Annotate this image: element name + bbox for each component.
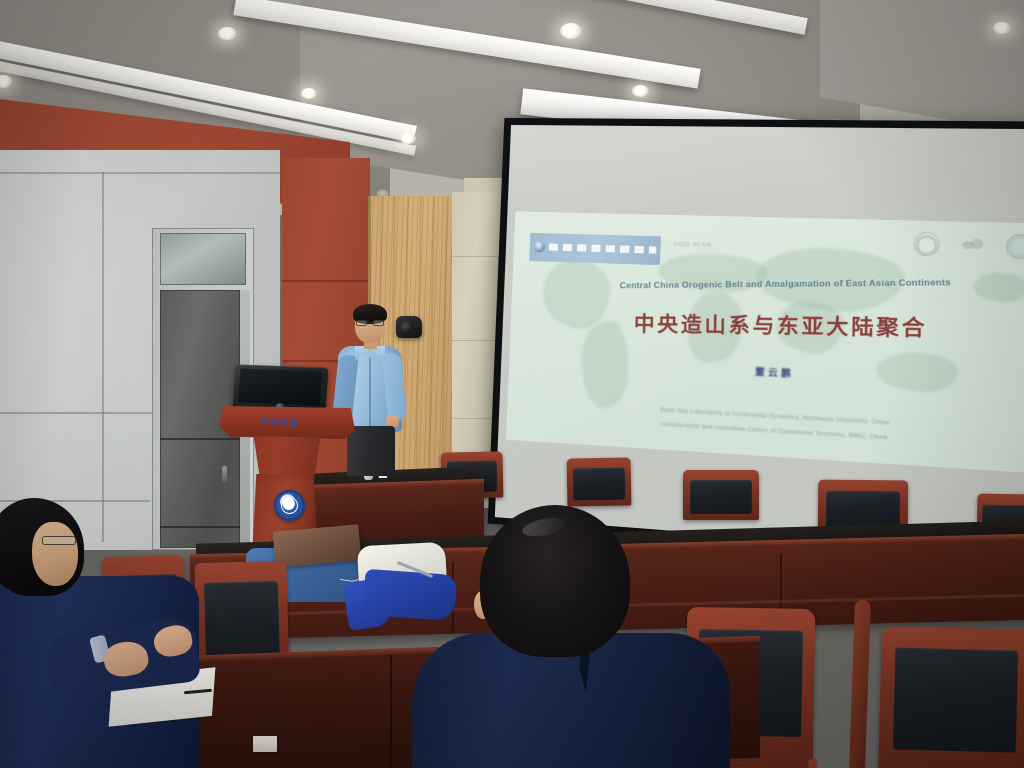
mountain-arc-emblem-icon [913,232,940,257]
slide-date-text: 2023 XI'AN [673,242,711,249]
door-transom-window [160,233,246,285]
glasses-icon [42,536,76,545]
audience-member-left [0,498,218,768]
downlight-icon [993,22,1011,34]
lecture-room-photo: 西北大学 2023 XI'AN Central China Orogenic B… [0,0,1024,768]
map-emblem-icon [960,233,988,259]
presenter-shirt-placket [369,357,371,427]
slide-university-logo: 西北大学 [530,233,662,266]
downlight-icon [218,27,237,40]
downlight-icon [301,88,317,99]
speaker-mount-arm [413,324,422,330]
university-emblem-icon [534,241,545,252]
chair[interactable] [878,626,1024,768]
presentation-slide: 西北大学 2023 XI'AN Central China Orogenic B… [506,212,1024,475]
audience-left-face [32,522,78,586]
downlight-icon [632,85,649,97]
chair[interactable] [567,457,632,506]
podium-neck [249,436,325,478]
downlight-icon [400,133,416,144]
globe-emblem-icon [1005,234,1024,260]
crest-inner-mark [281,497,298,514]
downlight-icon [560,23,582,39]
glasses-icon [356,320,384,326]
slide-logo-label: 西北大学 [549,244,657,254]
wall-seam [282,280,370,282]
chair-post [849,600,871,768]
desk-name-plate [253,736,277,752]
audience-member-center [430,505,720,768]
monitor-screen [238,369,322,406]
university-crest-icon [274,490,305,521]
